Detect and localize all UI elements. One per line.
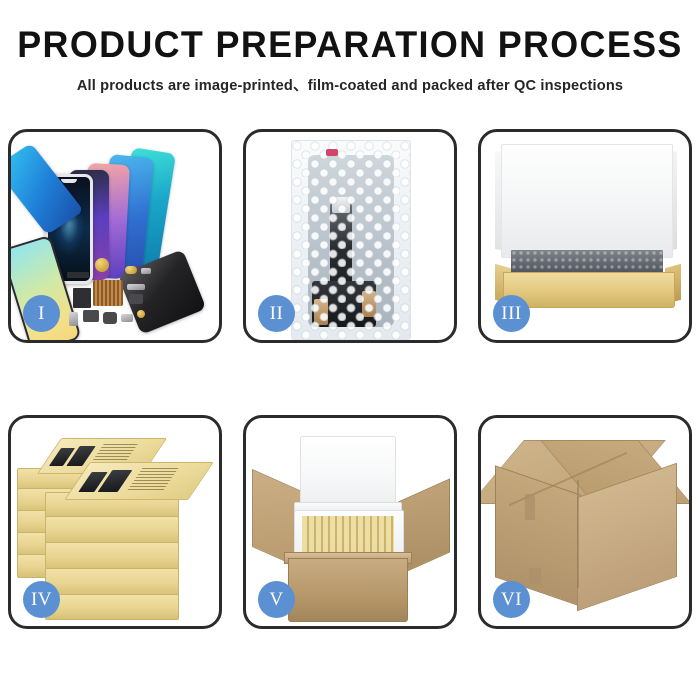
part-sim-tray [69,312,78,326]
step-panel-4[interactable]: IV [8,415,222,629]
stack-box-f-3 [45,542,179,570]
bag-red-seal-mark [326,149,338,156]
part-metal-bracket [127,284,145,290]
step-panel-5[interactable]: V [243,415,457,629]
page-subtitle: All products are image-printed、film-coat… [0,74,700,95]
part-camera-ring [95,258,109,272]
page-title: PRODUCT PREPARATION PROCESS [11,26,690,63]
foam-box-lid [300,436,396,510]
part-module-a [83,310,99,322]
part-flex-bracket [73,288,91,308]
step-badge-4: IV [23,581,60,618]
carton-vertical-edge [577,480,579,588]
phone-notch [61,179,77,183]
step-badge-2: II [258,295,295,332]
step-panel-2[interactable]: II [243,129,457,343]
step-badge-5: V [258,581,295,618]
carton-tape-upper [525,494,535,520]
bubble-wrap-bag [291,140,411,340]
page-header: PRODUCT PREPARATION PROCESS All products… [0,0,700,95]
stack-box-f-4 [45,568,179,596]
stack-box-f-5 [45,594,179,620]
part-flex-strip [67,272,89,278]
stack-box-f-2 [45,516,179,544]
step-panel-1[interactable]: I [8,129,222,343]
step-badge-6: VI [493,581,530,618]
bubble-texture [292,141,410,339]
part-silver-clip [141,268,151,274]
step-badge-1: I [23,295,60,332]
part-screw [137,310,145,318]
step-panel-6[interactable]: VI [478,415,692,629]
part-module-b [103,312,117,324]
process-steps-grid: I II III [8,129,692,629]
spare-parts-cluster [67,258,175,336]
step-panel-3[interactable]: III [478,129,692,343]
part-module-c [121,314,133,322]
part-speaker [129,294,143,304]
part-ic-chip-grid [93,280,123,306]
step-badge-3: III [493,295,530,332]
part-gold-clip [125,266,137,274]
box-front-panel [503,272,675,308]
carton-front-panel [288,558,408,622]
box-open-lid [501,144,673,258]
carton-tape-lower [529,568,541,584]
